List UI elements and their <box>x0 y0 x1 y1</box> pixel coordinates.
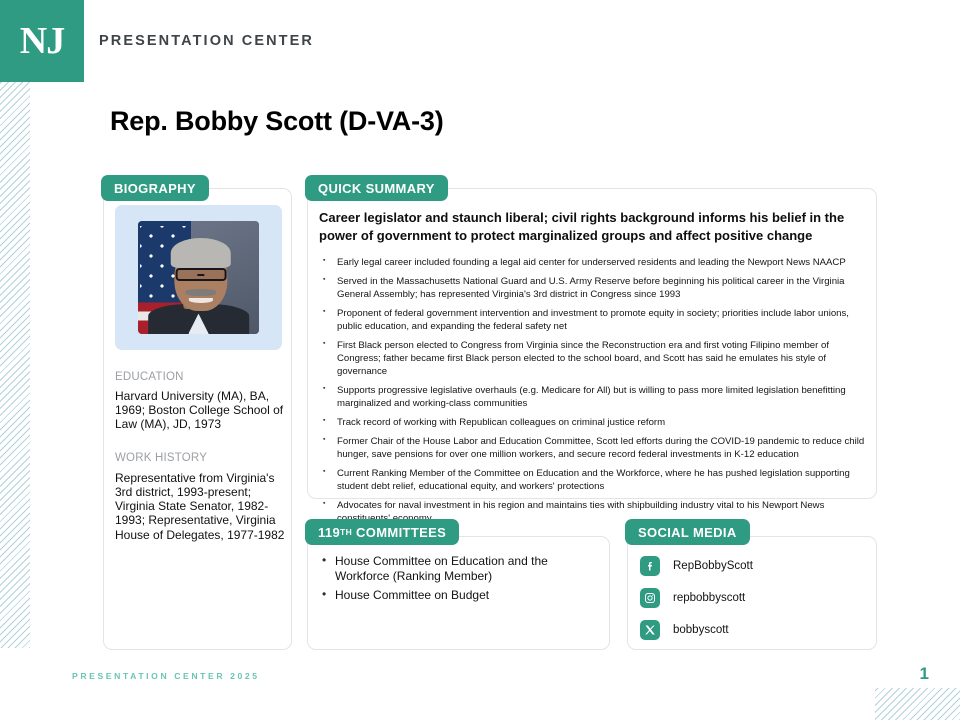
portrait-frame <box>115 205 282 350</box>
quick-summary-bullet-list: Early legal career included founding a l… <box>320 257 868 532</box>
social-handle: RepBobbyScott <box>673 560 753 572</box>
list-item: House Committee on Budget <box>320 588 600 603</box>
social-media-card: RepBobbyScott repbobbyscott <box>627 536 877 650</box>
header-divider <box>84 81 960 82</box>
portrait-mouth <box>189 298 213 304</box>
social-account-list: RepBobbyScott repbobbyscott <box>640 552 753 648</box>
portrait-photo <box>138 221 259 334</box>
list-item: Supports progressive legislative overhau… <box>320 385 868 411</box>
quick-summary-lead: Career legislator and staunch liberal; c… <box>319 209 861 244</box>
brand-logo-text: NJ <box>20 22 64 60</box>
instagram-icon[interactable] <box>640 588 660 608</box>
page-title: Rep. Bobby Scott (D-VA-3) <box>110 106 444 137</box>
education-value: Harvard University (MA), BA, 1969; Bosto… <box>115 389 285 431</box>
footer-text: PRESENTATION CENTER 2025 <box>72 671 260 681</box>
slide: NJ PRESENTATION CENTER Rep. Bobby Scott … <box>0 0 960 720</box>
list-item: House Committee on Education and the Wor… <box>320 554 600 585</box>
work-history-label: WORK HISTORY <box>115 452 207 464</box>
x-twitter-icon[interactable] <box>640 620 660 640</box>
education-label: EDUCATION <box>115 371 184 383</box>
portrait-mustache <box>185 289 216 296</box>
social-row-instagram[interactable]: repbobbyscott <box>640 584 753 612</box>
committees-badge-word: COMMITTEES <box>356 525 446 540</box>
facebook-icon[interactable] <box>640 556 660 576</box>
biography-badge: BIOGRAPHY <box>101 175 209 201</box>
committees-badge: 119TH COMMITTEES <box>305 519 459 545</box>
list-item: First Black person elected to Congress f… <box>320 340 868 378</box>
social-row-x-twitter[interactable]: bobbyscott <box>640 616 753 644</box>
quick-summary-badge: QUICK SUMMARY <box>305 175 448 201</box>
committee-list: House Committee on Education and the Wor… <box>320 554 600 606</box>
list-item: Track record of working with Republican … <box>320 417 868 430</box>
list-item: Proponent of federal government interven… <box>320 308 868 334</box>
biography-card: EDUCATION Harvard University (MA), BA, 1… <box>103 188 292 650</box>
hatch-pattern-left <box>0 82 30 648</box>
list-item: Current Ranking Member of the Committee … <box>320 468 868 494</box>
list-item: Served in the Massachusetts National Gua… <box>320 276 868 302</box>
page-number: 1 <box>920 664 929 684</box>
brand-logo: NJ <box>0 0 84 82</box>
committees-badge-number: 119 <box>318 525 340 540</box>
social-row-facebook[interactable]: RepBobbyScott <box>640 552 753 580</box>
work-history-value: Representative from Virginia's 3rd distr… <box>115 471 285 542</box>
quick-summary-card: Career legislator and staunch liberal; c… <box>307 188 877 499</box>
portrait-hair <box>171 238 232 269</box>
portrait-glasses <box>176 268 227 280</box>
list-item: Former Chair of the House Labor and Educ… <box>320 436 868 462</box>
social-handle: bobbyscott <box>673 624 729 636</box>
social-media-badge: SOCIAL MEDIA <box>625 519 750 545</box>
hatch-pattern-bottom-right <box>875 688 960 720</box>
committees-card: House Committee on Education and the Wor… <box>307 536 610 650</box>
social-handle: repbobbyscott <box>673 592 745 604</box>
list-item: Early legal career included founding a l… <box>320 257 868 270</box>
brand-name: PRESENTATION CENTER <box>99 33 314 49</box>
